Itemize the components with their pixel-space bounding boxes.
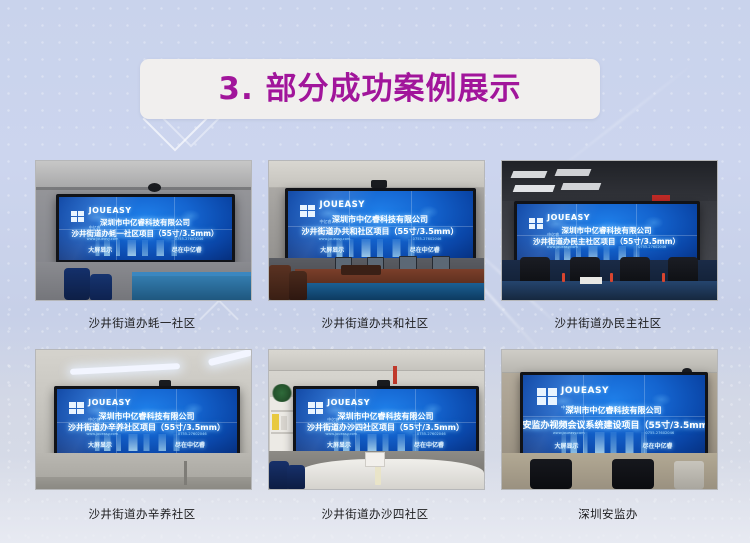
screen-slogan-right-1: 尽在中亿睿 [172, 245, 202, 254]
screen-project-6: 安监办视频会议系统建设项目（55寸/3.5mm） [523, 418, 705, 431]
case-photo-3[interactable]: JOUEASY 中亿睿 深圳市中亿睿科技有限公司 沙井街道办民主社区项目（55寸… [501, 160, 718, 301]
screen-company-6: 深圳市中亿睿科技有限公司 [523, 405, 705, 416]
screen-slogan-left-6: 大屏显示 [554, 441, 578, 450]
case-card-3[interactable]: JOUEASY 中亿睿 深圳市中亿睿科技有限公司 沙井街道办民主社区项目（55寸… [501, 160, 716, 349]
screen-project-2: 沙井街道办共和社区项目（55寸/3.5mm） [288, 226, 473, 237]
case-caption-4: 沙井街道办辛养社区 [35, 490, 250, 539]
screen-company-2: 深圳市中亿睿科技有限公司 [288, 214, 473, 225]
video-wall-display-5: JOUEASY 中亿睿 深圳市中亿睿科技有限公司 沙井街道办沙四社区项目（55寸… [293, 386, 479, 458]
case-card-4[interactable]: JOUEASY 中亿睿 深圳市中亿睿科技有限公司 沙井街道办辛养社区项目（55寸… [35, 349, 250, 539]
case-caption-1: 沙井街道办蚝一社区 [35, 301, 250, 349]
case-caption-3: 沙井街道办民主社区 [501, 301, 716, 349]
screen-brand-name: JOUEASY [89, 206, 132, 215]
case-card-5[interactable]: JOUEASY 中亿睿 深圳市中亿睿科技有限公司 沙井街道办沙四社区项目（55寸… [268, 349, 483, 539]
screen-company-5: 深圳市中亿睿科技有限公司 [296, 411, 476, 422]
potted-plant [271, 384, 293, 402]
case-photo-4[interactable]: JOUEASY 中亿睿 深圳市中亿睿科技有限公司 沙井街道办辛养社区项目（55寸… [35, 349, 252, 490]
video-wall-display-2: JOUEASY 中亿睿 深圳市中亿睿科技有限公司 沙井街道办共和社区项目（55寸… [285, 188, 476, 264]
window-logo-icon [537, 388, 557, 405]
gallery-row-1: JOUEASY 中亿睿 深圳市中亿睿科技有限公司 沙井街道办蚝一社区项目（55寸… [0, 160, 750, 349]
case-photo-1[interactable]: JOUEASY 中亿睿 深圳市中亿睿科技有限公司 沙井街道办蚝一社区项目（55寸… [35, 160, 252, 301]
case-card-1[interactable]: JOUEASY 中亿睿 深圳市中亿睿科技有限公司 沙井街道办蚝一社区项目（55寸… [35, 160, 250, 349]
case-caption-2: 沙井街道办共和社区 [268, 301, 483, 349]
screen-slogan-right-2: 尽在中亿睿 [410, 245, 440, 254]
screen-slogan-right-4: 尽在中亿睿 [175, 440, 205, 449]
case-gallery: JOUEASY 中亿睿 深圳市中亿睿科技有限公司 沙井街道办蚝一社区项目（55寸… [0, 160, 750, 539]
screen-company-3: 深圳市中亿睿科技有限公司 [517, 225, 697, 236]
case-card-6[interactable]: JOUEASY 中亿睿 深圳市中亿睿科技有限公司 安监办视频会议系统建设项目（5… [501, 349, 716, 539]
case-caption-5: 沙井街道办沙四社区 [268, 490, 483, 539]
case-photo-5[interactable]: JOUEASY 中亿睿 深圳市中亿睿科技有限公司 沙井街道办沙四社区项目（55寸… [268, 349, 485, 490]
screen-brand-name: JOUEASY [561, 386, 609, 396]
screen-slogan-left-1: 大屏显示 [88, 245, 112, 254]
screen-brand-name: JOUEASY [547, 213, 590, 222]
section-title-banner: 3. 部分成功案例展示 [140, 59, 600, 119]
video-wall-display-6: JOUEASY 中亿睿 深圳市中亿睿科技有限公司 安监办视频会议系统建设项目（5… [520, 372, 708, 460]
screen-brand-name: JOUEASY [327, 398, 370, 407]
screen-slogan-right-5: 尽在中亿睿 [414, 440, 444, 449]
screen-slogan-left-5: 大屏显示 [327, 440, 351, 449]
gallery-row-2: JOUEASY 中亿睿 深圳市中亿睿科技有限公司 沙井街道办辛养社区项目（55寸… [0, 349, 750, 539]
case-photo-6[interactable]: JOUEASY 中亿睿 深圳市中亿睿科技有限公司 安监办视频会议系统建设项目（5… [501, 349, 718, 490]
screen-company-4: 深圳市中亿睿科技有限公司 [57, 411, 237, 422]
screen-brand-name: JOUEASY [319, 200, 364, 210]
case-photo-2[interactable]: JOUEASY 中亿睿 深圳市中亿睿科技有限公司 沙井街道办共和社区项目（55寸… [268, 160, 485, 301]
screen-slogan-left-4: 大屏显示 [88, 440, 112, 449]
screen-slogan-left-2: 大屏显示 [320, 245, 344, 254]
screen-company-1: 深圳市中亿睿科技有限公司 [59, 217, 232, 228]
page-title: 3. 部分成功案例展示 [218, 74, 521, 105]
video-wall-display-4: JOUEASY 中亿睿 深圳市中亿睿科技有限公司 沙井街道办辛养社区项目（55寸… [54, 386, 240, 458]
case-card-2[interactable]: JOUEASY 中亿睿 深圳市中亿睿科技有限公司 沙井街道办共和社区项目（55寸… [268, 160, 483, 349]
screen-brand-name: JOUEASY [88, 398, 131, 407]
case-caption-6: 深圳安监办 [501, 490, 716, 539]
screen-slogan-right-6: 尽在中亿睿 [642, 441, 672, 450]
video-wall-display-1: JOUEASY 中亿睿 深圳市中亿睿科技有限公司 沙井街道办蚝一社区项目（55寸… [56, 194, 235, 263]
